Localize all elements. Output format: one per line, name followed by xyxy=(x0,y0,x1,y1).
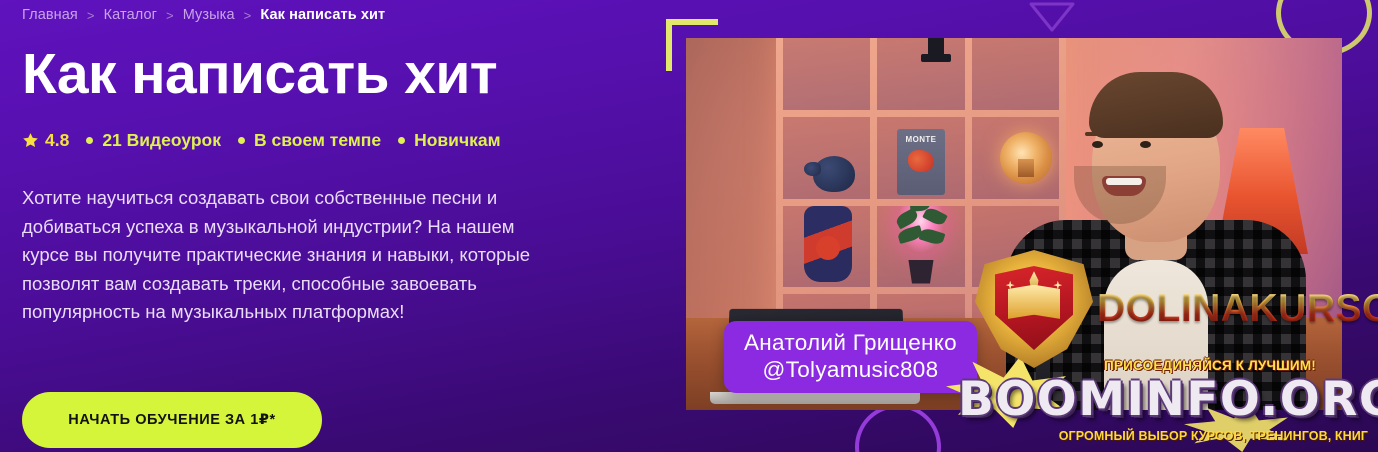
hero-left-column: Главная > Каталог > Музыка > Как написат… xyxy=(22,0,662,452)
eye xyxy=(1092,141,1103,148)
rating-value: 4.8 xyxy=(45,130,69,151)
watermark-dolinakursov-tagline: ПРИСОЕДИНЯЙСЯ К ЛУЧШИМ! xyxy=(1104,358,1316,373)
shelf-cell: MONTE xyxy=(877,117,964,198)
bullet-dot-icon xyxy=(238,137,245,144)
shelf-cell xyxy=(783,117,870,198)
bullet-dot-icon xyxy=(86,137,93,144)
presenter-handle: @Tolyamusic808 xyxy=(744,356,957,383)
watermark-boominfo-tagline: ОГРОМНЫЙ ВЫБОР КУРСОВ, ТРЕНИНГОВ, КНИГ xyxy=(958,429,1378,443)
shield-book-emblem-icon xyxy=(975,250,1093,368)
plant-pot xyxy=(906,260,936,284)
triangle-outline-decoration xyxy=(1028,1,1076,33)
shelf-plant xyxy=(894,206,948,284)
meta-label: 21 Видеоурок xyxy=(102,130,221,151)
shelf-figurine xyxy=(928,38,944,62)
start-course-button[interactable]: НАЧАТЬ ОБУЧЕНИЕ ЗА 1₽* xyxy=(22,392,322,448)
shelf-poster: MONTE xyxy=(897,129,945,195)
breadcrumb-separator: > xyxy=(244,8,252,23)
watermark-dolinakursov: DOLINAKURSOV xyxy=(975,250,1378,368)
poster-graphic xyxy=(908,150,934,172)
breadcrumb: Главная > Каталог > Музыка > Как написат… xyxy=(22,0,662,23)
presenter-name: Анатолий Грищенко xyxy=(744,329,957,356)
eye xyxy=(1140,141,1151,148)
breadcrumb-separator: > xyxy=(166,8,174,23)
meta-item-level: Новичкам xyxy=(398,130,500,151)
rating: 4.8 xyxy=(22,130,69,151)
star-icon xyxy=(22,132,39,149)
mouth xyxy=(1102,176,1146,196)
meta-item-pace: В своем темпе xyxy=(238,130,381,151)
watermark-dolinakursov-text: DOLINAKURSOV xyxy=(1097,287,1378,331)
meta-label: Новичкам xyxy=(414,130,500,151)
breadcrumb-item-home[interactable]: Главная xyxy=(22,7,78,23)
breadcrumb-item-catalog[interactable]: Каталог xyxy=(104,7,157,23)
bullet-dot-icon xyxy=(398,137,405,144)
watermark-boominfo: BOOMINFO.ORG ОГРОМНЫЙ ВЫБОР КУРСОВ, ТРЕН… xyxy=(958,372,1378,443)
shelf-duck-ornament xyxy=(813,156,855,192)
shelf-cell xyxy=(783,38,870,110)
shelf-cell xyxy=(783,206,870,287)
breadcrumb-item-current: Как написать хит xyxy=(260,7,385,23)
course-meta-row: 4.8 21 Видеоурок В своем темпе Новичкам xyxy=(22,130,662,151)
shelf-cell xyxy=(877,38,964,110)
circle-outline-decoration xyxy=(855,404,941,452)
shelf-vase xyxy=(804,206,852,282)
hair xyxy=(1089,72,1223,138)
meta-label: В своем темпе xyxy=(254,130,381,151)
shelf-poster-title: MONTE xyxy=(906,135,937,144)
shelf-cell xyxy=(877,206,964,287)
presenter-name-tag: Анатолий Грищенко @Tolyamusic808 xyxy=(724,321,977,393)
meta-item-lessons: 21 Видеоурок xyxy=(86,130,221,151)
breadcrumb-separator: > xyxy=(87,8,95,23)
breadcrumb-item-music[interactable]: Музыка xyxy=(183,7,235,23)
watermark-boominfo-text: BOOMINFO.ORG xyxy=(958,372,1378,427)
page-title: Как написать хит xyxy=(22,46,662,103)
laptop-base xyxy=(710,392,920,404)
course-description: Хотите научиться создавать свои собствен… xyxy=(22,184,542,327)
